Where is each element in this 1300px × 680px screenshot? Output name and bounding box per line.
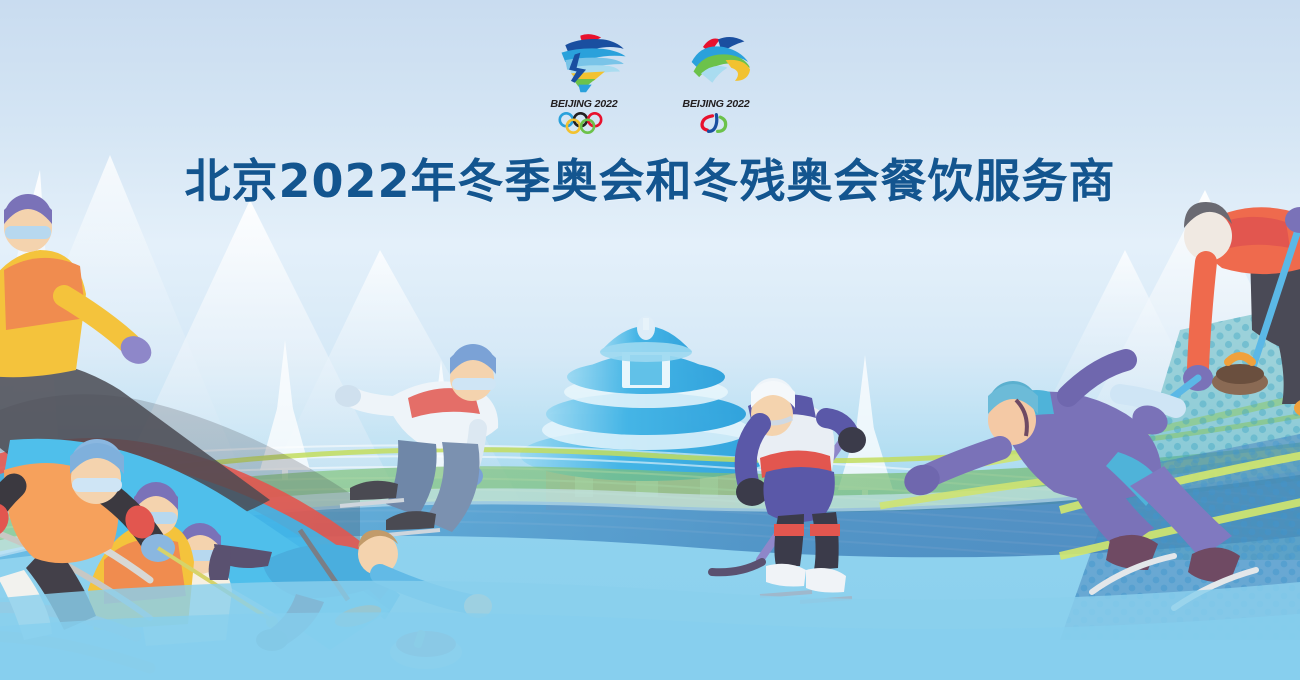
beijing-2022-paralympic-emblem	[669, 30, 763, 96]
beijing-2022-banner: BEIJING 2022 BEIJING 2022	[0, 0, 1300, 680]
page-title: 北京2022年冬季奥会和冬残奥会餐饮服务商	[0, 145, 1300, 211]
olympic-emblem-block: BEIJING 2022	[536, 30, 632, 134]
paralympic-wordmark: BEIJING 2022	[682, 98, 749, 110]
beijing-2022-olympic-emblem	[537, 30, 631, 96]
paralympic-emblem-block: BEIJING 2022	[668, 30, 764, 134]
olympic-rings	[552, 112, 617, 134]
olympic-wordmark: BEIJING 2022	[550, 98, 617, 110]
paralympic-agitos	[684, 112, 749, 134]
emblem-row: BEIJING 2022 BEIJING 2022	[0, 30, 1300, 134]
